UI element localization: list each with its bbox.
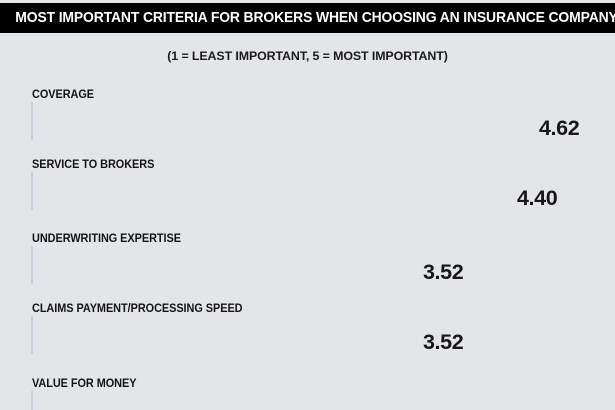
bar-category-label: COVERAGE — [32, 88, 94, 101]
chart-title: MOST IMPORTANT CRITERIA FOR BROKERS WHEN… — [0, 10, 615, 26]
bar-track — [32, 392, 380, 410]
bar-category-label: CLAIMS PAYMENT/PROCESSING SPEED — [32, 302, 242, 315]
infographic-chart: MOST IMPORTANT CRITERIA FOR BROKERS WHEN… — [0, 0, 615, 410]
bar-value-label: 4.40 — [517, 173, 557, 210]
bar-value-label: 3.52 — [423, 317, 463, 354]
chart-subtitle: (1 = LEAST IMPORTANT, 5 = MOST IMPORTANT… — [0, 49, 615, 63]
bar-value-label: 3.52 — [423, 247, 463, 284]
bar-category-label: SERVICE TO BROKERS — [32, 158, 154, 171]
bar-track — [32, 103, 533, 139]
bar-track — [32, 247, 417, 283]
title-bar: MOST IMPORTANT CRITERIA FOR BROKERS WHEN… — [0, 3, 615, 33]
bar-category-label: VALUE FOR MONEY — [32, 377, 136, 390]
bar-track — [32, 317, 417, 353]
bar-value-label: 4.62 — [539, 103, 579, 140]
bar-track — [32, 173, 511, 209]
bar-chart-plot-area: COVERAGE4.62SERVICE TO BROKERS4.40UNDERW… — [0, 82, 615, 410]
bar-category-label: UNDERWRITING EXPERTISE — [32, 232, 181, 245]
